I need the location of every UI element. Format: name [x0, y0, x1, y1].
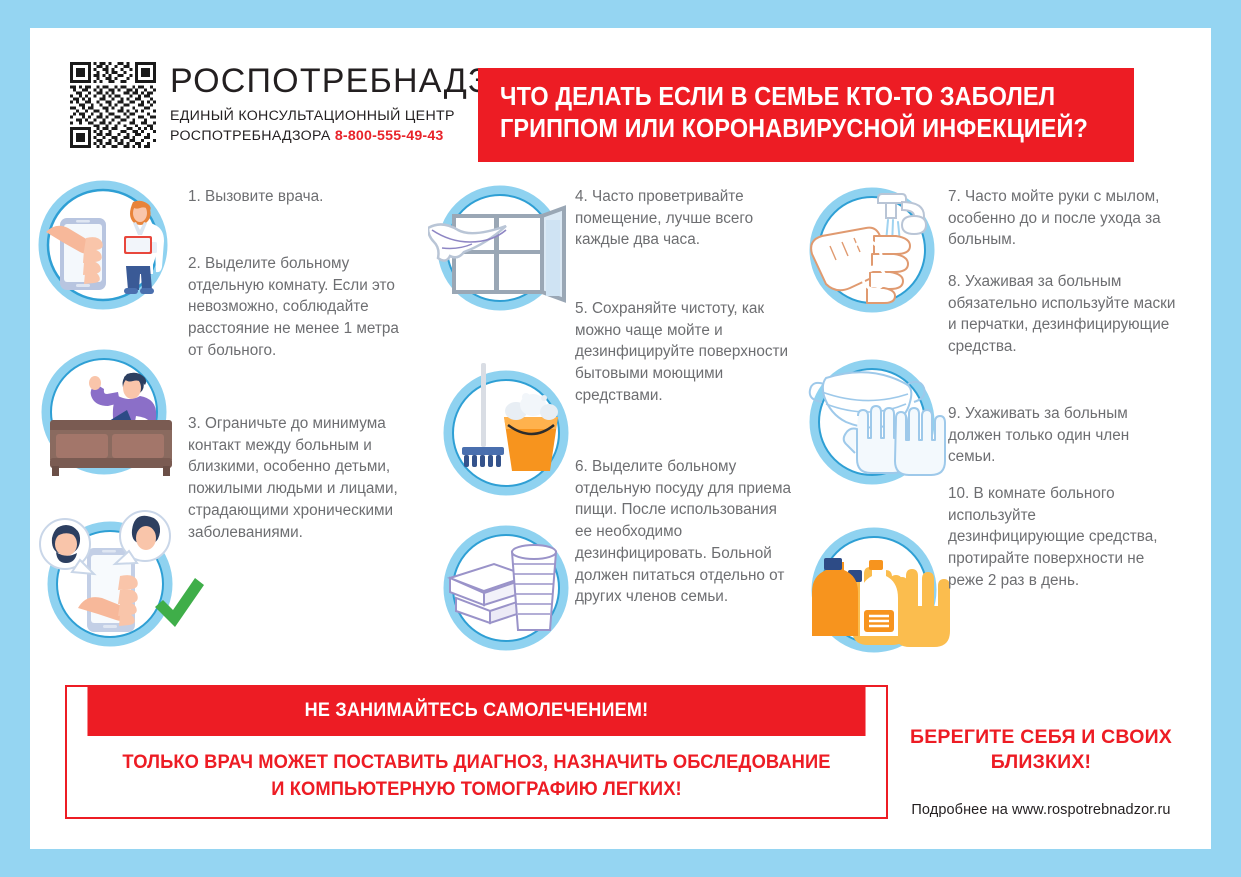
open-window-icon — [428, 180, 583, 320]
advice-text-4: 4. Часто проветривайте помещение, лучше … — [575, 186, 789, 251]
care-block: БЕРЕГИТЕ СЕБЯ И СВОИХ БЛИЗКИХ! Подробнее… — [896, 725, 1186, 818]
care-message-line-2: БЛИЗКИХ! — [896, 750, 1186, 775]
advice-column-1: 1. Вызовите врача. 2. Выделите больному … — [30, 178, 430, 666]
title-line-2: ГРИППОМ ИЛИ КОРОНАВИРУСНОЙ ИНФЕКЦИЕЙ? — [500, 114, 1065, 146]
advice-column-3: 7. Часто мойте руки с мылом, особенно до… — [800, 178, 1211, 666]
advice-text-1: 1. Вызовите врача. — [188, 186, 400, 208]
doctor-call-icon — [38, 180, 168, 310]
patient-on-sofa-icon — [32, 344, 182, 484]
consultation-center-label: РОСПОТРЕБНАДЗОРА — [170, 128, 331, 144]
advice-column-2: 4. Часто проветривайте помещение, лучше … — [430, 178, 800, 666]
disposable-tableware-icon — [434, 518, 584, 663]
website-link[interactable]: Подробнее на www.rospotrebnadzor.ru — [896, 802, 1186, 818]
video-call-icon — [32, 500, 212, 660]
qr-code-icon — [70, 62, 156, 148]
title-banner: ЧТО ДЕЛАТЬ ЕСЛИ В СЕМЬЕ КТО-ТО ЗАБОЛЕЛ Г… — [478, 68, 1134, 162]
bucket-and-mop-icon — [434, 363, 584, 508]
advice-text-9: 9. Ухаживать за больным должен только од… — [948, 403, 1176, 468]
poster-frame: РОСПОТРЕБНАДЗОР ЕДИНЫЙ КОНСУЛЬТАЦИОННЫЙ … — [0, 0, 1241, 877]
advice-columns: 1. Вызовите врача. 2. Выделите больному … — [30, 178, 1211, 666]
mask-and-gloves-icon — [800, 350, 955, 500]
warning-body-line-1: ТОЛЬКО ВРАЧ МОЖЕТ ПОСТАВИТЬ ДИАГНОЗ, НАЗ… — [101, 749, 852, 776]
title-line-1: ЧТО ДЕЛАТЬ ЕСЛИ В СЕМЬЕ КТО-ТО ЗАБОЛЕЛ — [500, 82, 1065, 114]
warning-body: ТОЛЬКО ВРАЧ МОЖЕТ ПОСТАВИТЬ ДИАГНОЗ, НАЗ… — [67, 736, 886, 817]
warning-body-line-2: И КОМПЬЮТЕРНУЮ ТОМОГРАФИЮ ЛЕГКИХ! — [101, 776, 852, 803]
hotline-phone[interactable]: 8-800-555-49-43 — [335, 128, 444, 144]
care-message-line-1: БЕРЕГИТЕ СЕБЯ И СВОИХ — [896, 725, 1186, 750]
advice-text-6: 6. Выделите больному отдельную посуду дл… — [575, 456, 791, 608]
poster-footer: НЕ ЗАНИМАЙТЕСЬ САМОЛЕЧЕНИЕМ! ТОЛЬКО ВРАЧ… — [30, 685, 1211, 835]
poster-header: РОСПОТРЕБНАДЗОР ЕДИНЫЙ КОНСУЛЬТАЦИОННЫЙ … — [30, 28, 1211, 168]
advice-text-2: 2. Выделите больному отдельную комнату. … — [188, 253, 404, 362]
advice-text-5: 5. Сохраняйте чистоту, как можно чаще мо… — [575, 298, 789, 407]
warning-headline: НЕ ЗАНИМАЙТЕСЬ САМОЛЕЧЕНИЕМ! — [87, 687, 865, 736]
warning-box: НЕ ЗАНИМАЙТЕСЬ САМОЛЕЧЕНИЕМ! ТОЛЬКО ВРАЧ… — [65, 685, 888, 819]
hand-washing-icon — [800, 180, 955, 325]
advice-text-8: 8. Ухаживая за больным обязательно испол… — [948, 271, 1176, 358]
poster-sheet: РОСПОТРЕБНАДЗОР ЕДИНЫЙ КОНСУЛЬТАЦИОННЫЙ … — [30, 28, 1211, 849]
care-message: БЕРЕГИТЕ СЕБЯ И СВОИХ БЛИЗКИХ! — [896, 725, 1186, 776]
advice-text-7: 7. Часто мойте руки с мылом, особенно до… — [948, 186, 1176, 251]
advice-text-10: 10. В комнате больного используйте дезин… — [948, 483, 1176, 592]
disinfectant-gloves-icon — [800, 518, 960, 668]
logo-block: РОСПОТРЕБНАДЗОР ЕДИНЫЙ КОНСУЛЬТАЦИОННЫЙ … — [70, 62, 541, 148]
advice-text-3: 3. Ограничьте до минимума контакт между … — [188, 413, 404, 543]
